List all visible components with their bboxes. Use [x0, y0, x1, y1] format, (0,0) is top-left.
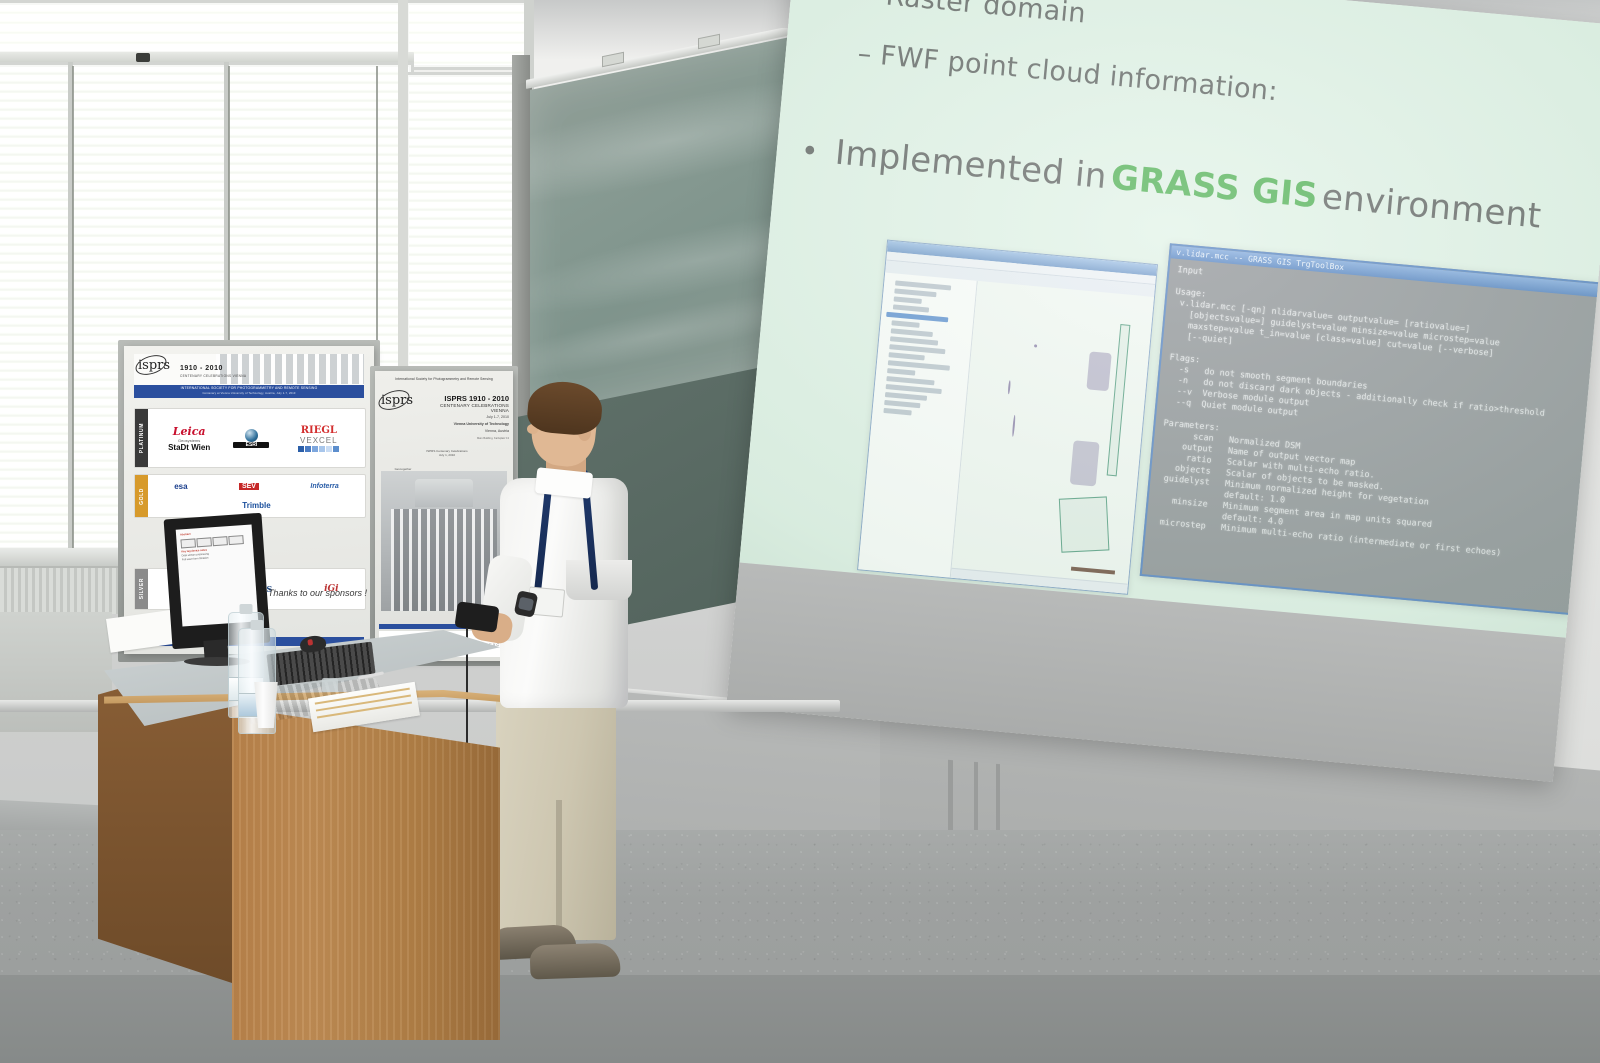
slide-main-bullet-post: environment: [1320, 177, 1543, 237]
header-building-photo: [216, 354, 364, 384]
slide-sub-bullet-2: – FWF point cloud information:: [856, 38, 1279, 107]
poster-header-band: INTERNATIONAL SOCIETY FOR PHOTOGRAMMETRY…: [134, 385, 364, 398]
slide-main-bullet-row: • Implemented in GRASS GIS environment: [799, 129, 1543, 236]
tier-logos-gold: esa SEV Infoterra Trimble: [148, 475, 365, 517]
thanks-to-sponsors-text: Thanks to our sponsors !: [268, 588, 367, 598]
banner-fineprint: Main Building, Karlsplatz 13: [425, 436, 509, 441]
gis-layer-item[interactable]: [894, 288, 936, 297]
gis-layer-item[interactable]: [891, 328, 933, 337]
blinds-side-right: [409, 77, 525, 367]
window-transom-left: [0, 0, 406, 56]
tier-tab-silver: SILVER: [135, 569, 148, 609]
banner-city: Vienna, Austria: [425, 429, 509, 434]
logo-trimble: Trimble: [149, 501, 364, 510]
map-cluster: [1070, 440, 1100, 486]
sponsor-tier-gold: GOLD esa SEV Infoterra Trimble: [134, 474, 366, 518]
banner-society-line: International Society for Photogrammetry…: [381, 377, 507, 381]
banner-title-block: ISPRS 1910 - 2010 CENTENARY CELEBRATIONS…: [425, 393, 509, 441]
slide-main-bullet-highlight: GRASS GIS: [1109, 158, 1319, 217]
isprs-logo: isprs: [138, 358, 170, 373]
gis-layer-item[interactable]: [885, 392, 927, 401]
banner-subtitle: CENTENARY CELEBRATIONS VIENNA: [425, 403, 509, 413]
lectern-front-panel: [232, 700, 500, 1040]
projection-screen: ▼ M – Raster domain – FWF point cloud in…: [726, 0, 1600, 782]
gis-layer-item[interactable]: [887, 368, 915, 376]
slide-main-bullet-pre: Implemented in: [833, 133, 1108, 198]
tier-logos-platinum: Leica Geosystems StaDt Wien ESRI RIEGL V…: [148, 409, 365, 467]
logo-esri: ESRI: [233, 442, 269, 448]
logo-stadt-wien: StaDt Wien: [152, 443, 226, 452]
blind-catch-1: [136, 53, 150, 62]
blinds-transom-right: [409, 5, 525, 65]
banner-header: International Society for Photogrammetry…: [381, 377, 507, 381]
gis-layer-item[interactable]: [891, 320, 919, 328]
tier-tab-gold: GOLD: [135, 475, 148, 517]
projected-slide: ▼ M – Raster domain – FWF point cloud in…: [739, 0, 1600, 638]
presenter-shoe-right: [529, 942, 620, 979]
slide-main-bullet-marker: •: [799, 133, 820, 169]
logo-esa: esa: [174, 482, 187, 491]
window-sill: [0, 548, 122, 566]
logo-riegl-group: RIEGL VEXCEL: [277, 425, 361, 452]
gis-layer-item[interactable]: [884, 400, 920, 408]
logo-esri-group: ESRI: [233, 429, 269, 448]
radiator-grille: [0, 566, 118, 614]
banner-title: ISPRS 1910 - 2010: [425, 394, 509, 403]
gis-layer-item[interactable]: [894, 296, 922, 304]
logo-sev: SEV: [239, 483, 259, 490]
map-point: [1008, 380, 1011, 394]
map-scale-bar: [1071, 567, 1115, 575]
banner-date: July 1-7, 2010: [425, 415, 509, 420]
gis-body: [858, 272, 1154, 593]
gis-layer-item[interactable]: [883, 408, 911, 416]
blind-cord-1: [72, 66, 74, 552]
map-point: [1012, 415, 1016, 437]
poster-header: isprs 1910 - 2010 CENTENARY CELEBRATIONS…: [134, 354, 364, 398]
logo-leica: Leica: [152, 425, 226, 438]
gis-app-window[interactable]: [857, 240, 1158, 595]
banner-venue: Vienna University of Technology: [425, 422, 509, 427]
gis-layer-item[interactable]: [888, 352, 924, 360]
gis-map-canvas[interactable]: [951, 281, 1154, 594]
vexcel-swatches: [277, 446, 361, 452]
gis-layer-item[interactable]: [893, 304, 929, 312]
slide-sub-bullet-1: – Raster domain: [862, 0, 1087, 30]
tier-tab-platinum: PLATINUM: [135, 409, 148, 467]
bottle-cap: [240, 604, 253, 614]
terminal-output: Input Usage: v.lidar.mcc [-qn] nlidarval…: [1146, 258, 1599, 572]
small-container: [322, 678, 338, 692]
bottle-cap: [251, 620, 264, 630]
map-cluster: [1086, 351, 1111, 391]
blinds-transom-left: [0, 5, 401, 51]
poster-years: 1910 - 2010: [180, 365, 223, 372]
sponsor-tier-platinum: PLATINUM Leica Geosystems StaDt Wien ESR…: [134, 408, 366, 468]
map-vector-line: [1107, 324, 1131, 476]
tier-label: PLATINUM: [139, 423, 145, 453]
presenter-leg-seam: [556, 800, 562, 940]
logo-infoterra: Infoterra: [310, 483, 338, 490]
logo-leica-group: Leica Geosystems StaDt Wien: [152, 425, 226, 452]
banner-isprs-logo: isprs: [381, 393, 413, 408]
map-vector-polygon: [1059, 496, 1110, 552]
tier-label: SILVER: [139, 578, 145, 599]
terminal-window[interactable]: v.lidar.mcc -- GRASS GIS TrgToolBox Inpu…: [1140, 243, 1600, 615]
poster-subtitle: CENTENARY CELEBRATIONS VIENNA: [180, 374, 246, 378]
radiator-body: [0, 612, 112, 732]
banner-annotation-center: ISPRS Centenary Celebrations July 1, 201…: [417, 449, 477, 457]
lecture-room-photo: ▼ M – Raster domain – FWF point cloud in…: [0, 0, 1600, 1063]
logo-riegl: RIEGL: [277, 425, 361, 436]
tier-label: GOLD: [139, 488, 145, 505]
globe-icon: [245, 429, 258, 442]
logo-vexcel: VEXCEL: [277, 436, 361, 445]
map-point: [1034, 344, 1037, 347]
poster-band-line-2: Centenary at Vienna University of Techno…: [134, 391, 364, 397]
presenter-sleeve: [566, 560, 632, 600]
